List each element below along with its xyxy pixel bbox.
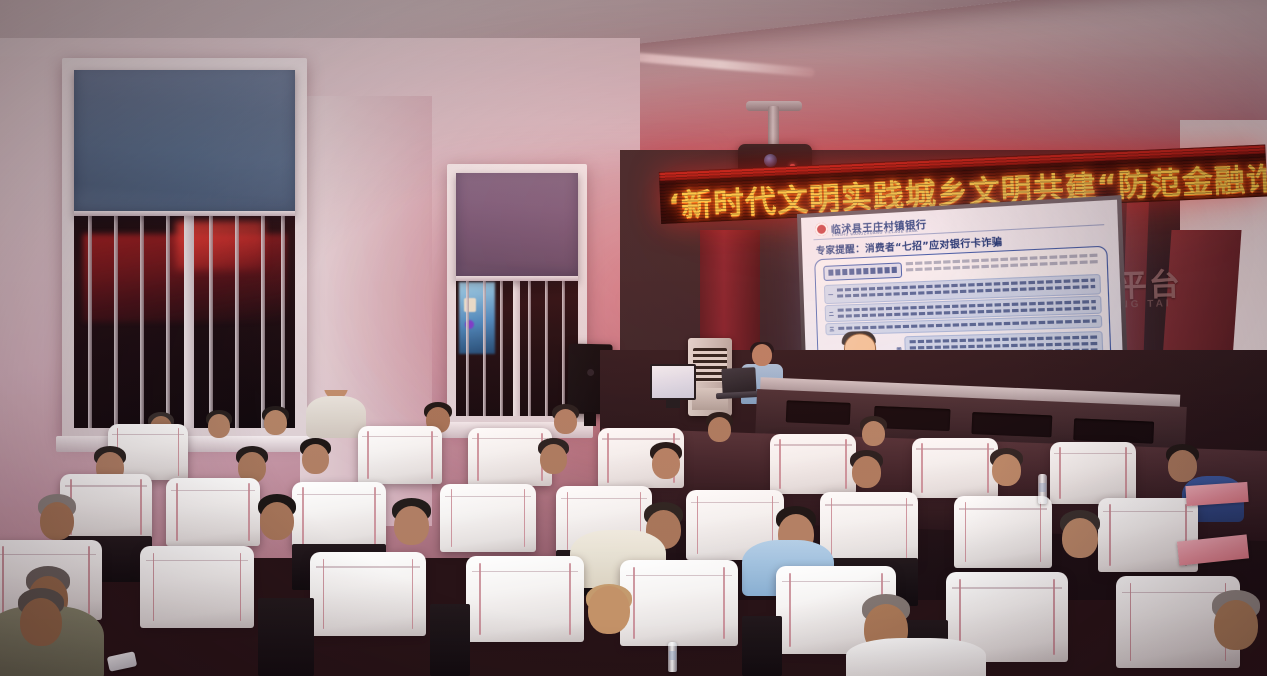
projector-lens xyxy=(764,154,777,167)
chair-with-cover[interactable] xyxy=(820,492,918,564)
audience-seating xyxy=(0,390,1267,676)
slide-section-chip xyxy=(823,262,902,281)
attendee-body xyxy=(846,638,986,676)
attendee-head xyxy=(1168,450,1197,482)
attendee-head xyxy=(1214,600,1258,650)
chair-with-cover[interactable] xyxy=(466,556,584,642)
chair-with-cover[interactable] xyxy=(1050,442,1136,504)
chair-with-cover[interactable] xyxy=(620,560,738,646)
chair-seat[interactable] xyxy=(430,604,470,676)
attendee-head xyxy=(260,502,294,540)
window-left xyxy=(62,58,307,440)
presenter-head xyxy=(752,344,772,366)
chair-with-cover[interactable] xyxy=(310,552,426,636)
attendee-head xyxy=(852,456,881,488)
chair-with-cover[interactable] xyxy=(140,546,254,628)
smartphone-icon xyxy=(107,651,138,671)
attendee-head xyxy=(708,417,731,442)
attendee-head xyxy=(554,409,577,434)
attendee-head xyxy=(264,410,287,435)
water-bottle-icon xyxy=(668,642,677,672)
blind-bottom-rail[interactable] xyxy=(456,276,578,281)
chair-with-cover[interactable] xyxy=(954,496,1052,568)
attendee-head xyxy=(540,444,567,474)
standing-attendee-body xyxy=(306,396,366,438)
window-blind-left[interactable] xyxy=(74,70,295,216)
blind-bottom-rail[interactable] xyxy=(74,211,295,216)
chair-with-cover[interactable] xyxy=(292,482,386,550)
chair-with-cover[interactable] xyxy=(358,426,442,484)
attendee-head xyxy=(862,421,885,446)
attendee-head xyxy=(20,598,62,646)
meeting-hall-photo: ‘新时代文明实践城乡文明共建“防范金融诈骗”专题 信息平台 XIN XI PIN… xyxy=(0,0,1267,676)
water-bottle-icon xyxy=(1038,474,1047,504)
chair-with-cover[interactable] xyxy=(912,438,998,498)
chair-with-cover[interactable] xyxy=(440,484,536,552)
chair-with-cover[interactable] xyxy=(770,434,856,494)
attendee-head xyxy=(40,502,74,540)
attendee-head xyxy=(302,444,329,474)
attendee-head xyxy=(588,586,630,634)
chair-seat[interactable] xyxy=(742,616,782,676)
attendee-head xyxy=(652,448,680,479)
slide-intro-text xyxy=(906,253,1100,273)
chair-seat[interactable] xyxy=(258,598,314,676)
attendee-head xyxy=(394,506,429,545)
window-right xyxy=(447,164,587,426)
bank-logo-icon xyxy=(815,222,828,236)
window-blind-right[interactable] xyxy=(456,173,578,281)
attendee-head xyxy=(992,454,1021,486)
chair-with-cover[interactable] xyxy=(166,478,260,546)
attendee-head xyxy=(1062,518,1098,558)
attendee-head xyxy=(208,414,230,438)
